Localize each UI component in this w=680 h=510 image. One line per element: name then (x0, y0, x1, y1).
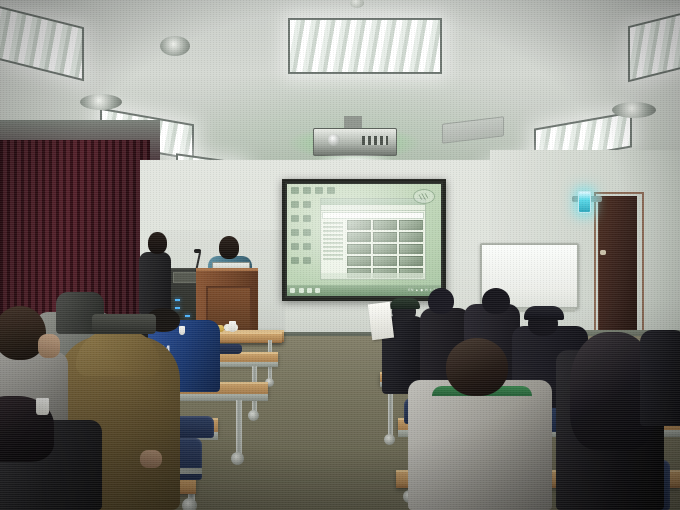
rack-front-panel (173, 272, 197, 283)
table-caster (384, 434, 395, 445)
attendee-brown-parka-hand (140, 450, 162, 468)
baseball-cap-icon (390, 298, 420, 309)
presenter-left-body (139, 252, 171, 314)
room-door[interactable] (598, 196, 637, 346)
door-handle[interactable] (600, 250, 606, 255)
handout-papers (368, 302, 394, 340)
attendee-grey-tshirt-hand (38, 334, 60, 358)
light-panel-top-center (288, 18, 442, 74)
projector-control-panel (362, 136, 388, 145)
attendee-centre-dark-head (428, 288, 454, 314)
projection-screen: EN ▲ ◆ ✉ 4:27 (282, 179, 446, 301)
projector-lens-icon (328, 134, 340, 146)
rack-led-indicator (175, 307, 180, 309)
exit-sign-icon (578, 191, 591, 213)
microphone-head-icon (194, 249, 201, 253)
bag-on-table (92, 314, 156, 334)
table-caster (248, 410, 259, 421)
paper-cup (229, 321, 236, 332)
presenter-right-head (219, 236, 239, 259)
table-caster (231, 452, 244, 465)
paper-cup (179, 326, 185, 335)
downlight-left (160, 36, 190, 56)
attendee-far-right-body (640, 330, 680, 426)
ceiling-projector (313, 128, 397, 156)
attendee-grey-cardigan-head (446, 338, 508, 396)
projected-desktop: EN ▲ ◆ ✉ 4:27 (287, 184, 441, 296)
attendee-dark-jacket-head (482, 288, 510, 314)
screen-light-wash (287, 184, 441, 296)
presenter-left-head (148, 232, 167, 254)
paper-cup (36, 398, 49, 415)
downlight-ceiling-a (80, 94, 122, 110)
table-caster (182, 498, 197, 510)
black-cap-icon (524, 306, 564, 320)
rack-led-indicator (185, 315, 190, 317)
photograph-seminar-room: EN ▲ ◆ ✉ 4:27 (0, 0, 680, 510)
table-leg (236, 400, 242, 456)
downlight-ceiling-b (612, 102, 656, 118)
attendee-grey-cardigan-body (408, 380, 552, 510)
rack-led-indicator (175, 299, 180, 301)
